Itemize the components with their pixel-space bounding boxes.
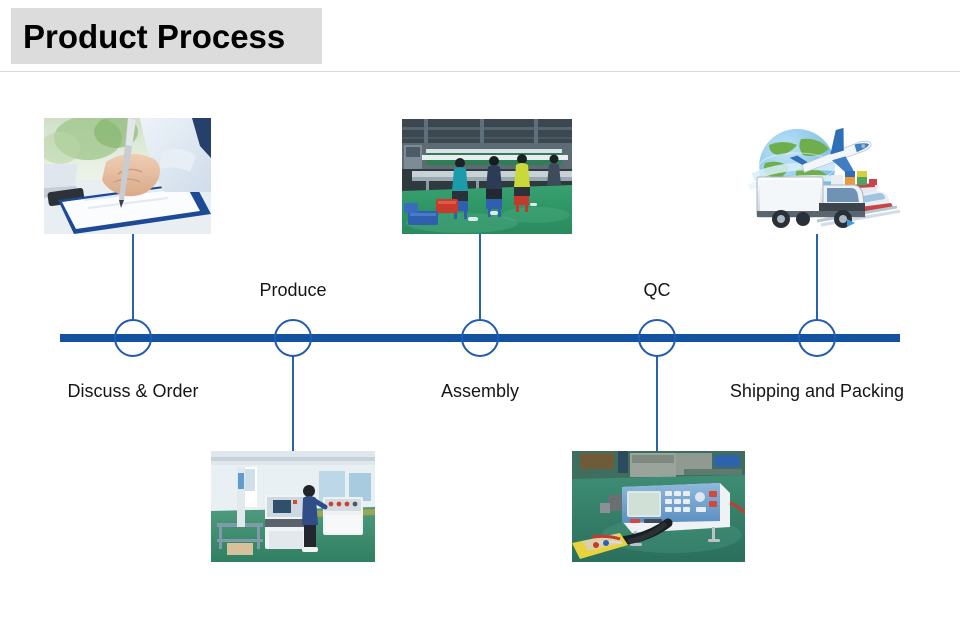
connector-node-3 xyxy=(479,234,481,320)
timeline-node-qc[interactable] xyxy=(638,319,676,357)
connector-node-5 xyxy=(816,234,818,320)
timeline-label-produce: Produce xyxy=(193,281,393,299)
timeline-node-discuss-order[interactable] xyxy=(114,319,152,357)
photo-shipping-packing xyxy=(739,119,900,234)
page-title-box: Product Process xyxy=(11,8,322,64)
timeline-label-shipping-packing: Shipping and Packing xyxy=(692,382,942,400)
photo-discuss-order-art xyxy=(44,118,211,234)
timeline-node-produce[interactable] xyxy=(274,319,312,357)
timeline-node-shipping[interactable] xyxy=(798,319,836,357)
photo-assembly xyxy=(402,119,572,234)
timeline-node-assembly[interactable] xyxy=(461,319,499,357)
photo-discuss-order xyxy=(44,118,211,234)
photo-shipping-packing-art xyxy=(739,119,900,234)
page-title: Product Process xyxy=(23,20,285,53)
photo-produce-art xyxy=(211,451,375,562)
header-divider xyxy=(0,71,960,72)
photo-produce xyxy=(211,451,375,562)
timeline-label-assembly: Assembly xyxy=(380,382,580,400)
photo-qc xyxy=(572,451,745,562)
slide-canvas: Product Process xyxy=(0,0,960,617)
photo-assembly-art xyxy=(402,119,572,234)
timeline-label-discuss-order: Discuss & Order xyxy=(33,382,233,400)
connector-node-1 xyxy=(132,234,134,320)
connector-node-4 xyxy=(656,356,658,451)
photo-qc-art xyxy=(572,451,745,562)
timeline-label-qc: QC xyxy=(557,281,757,299)
slide-header: Product Process xyxy=(0,0,960,72)
connector-node-2 xyxy=(292,356,294,451)
